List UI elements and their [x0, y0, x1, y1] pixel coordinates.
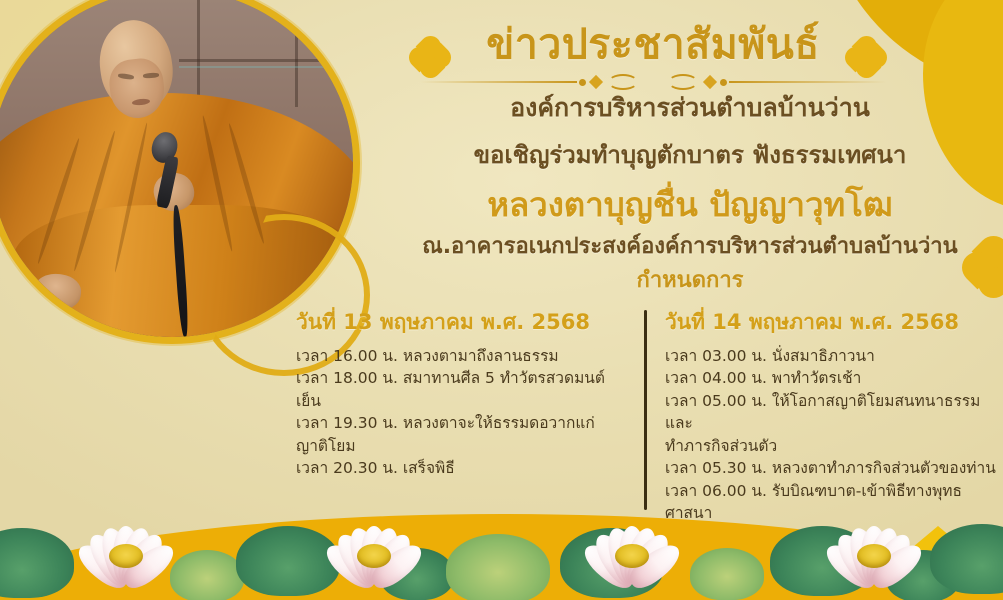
schedule-item: เวลา 19.30 น. หลวงตาจะให้ธรรมดอวากแก่ญาต… [296, 412, 626, 457]
flourish-line [420, 81, 577, 83]
flourish-dot [720, 79, 727, 86]
schedule-item: เวลา 05.30 น. หลวงตาทำภารกิจส่วนตัวของท่… [665, 457, 996, 479]
schedule-date-heading: วันที่ 13 พฤษภาคม พ.ศ. 2568 [296, 306, 626, 339]
flourish-dot [579, 79, 586, 86]
lotus-flower [800, 494, 948, 598]
monk-name: หลวงตาบุญชื่น ปัญญาวุทโฒ [380, 178, 1000, 231]
schedule-column-day1: วันที่ 13 พฤษภาคม พ.ศ. 2568 เวลา 16.00 น… [296, 306, 644, 480]
title-row: ข่าวประชาสัมพันธ์ [380, 24, 926, 65]
schedule-item: เวลา 04.00 น. พาทำวัตรเช้า [665, 367, 996, 389]
agenda-label: กำหนดการ [380, 262, 1000, 297]
invitation-line: ขอเชิญร่วมทำบุญตักบาตร ฟังธรรมเทศนา [380, 135, 1000, 174]
schedule-item: เวลา 20.30 น. เสร็จพิธี [296, 457, 626, 479]
lotus-center [857, 544, 891, 568]
announcement-poster: ข่าวประชาสัมพันธ์ องค์การบริหารส่วนตำบลบ… [0, 0, 1003, 600]
organization-name: องค์การบริหารส่วนตำบลบ้านว่าน [380, 88, 1000, 128]
lotus-leaf [446, 534, 550, 600]
bottom-lotus-band [0, 482, 1003, 600]
page-title: ข่าวประชาสัมพันธ์ [486, 24, 820, 65]
lotus-center [109, 544, 143, 568]
lotus-center [357, 544, 391, 568]
lotus-center [615, 544, 649, 568]
lotus-flower [52, 494, 200, 598]
flourish-diamond [703, 75, 717, 89]
flourish-line [729, 81, 886, 83]
schedule-item: เวลา 03.00 น. นั่งสมาธิภาวนา [665, 345, 996, 367]
schedule-item: เวลา 16.00 น. หลวงตามาถึงลานธรรม [296, 345, 626, 367]
schedule-date-heading: วันที่ 14 พฤษภาคม พ.ศ. 2568 [665, 306, 996, 339]
schedule-item: เวลา 05.00 น. ให้โอกาสญาติโยมสนทนาธรรมแล… [665, 390, 996, 457]
lotus-flower [558, 494, 706, 598]
venue-line: ณ.อาคารอเนกประสงค์องค์การบริหารส่วนตำบลบ… [380, 228, 1000, 263]
lotus-flower [300, 494, 448, 598]
schedule-item: เวลา 18.00 น. สมาทานศีล 5 ทำวัตรสวดมนต์เ… [296, 367, 626, 412]
flourish-diamond [589, 75, 603, 89]
